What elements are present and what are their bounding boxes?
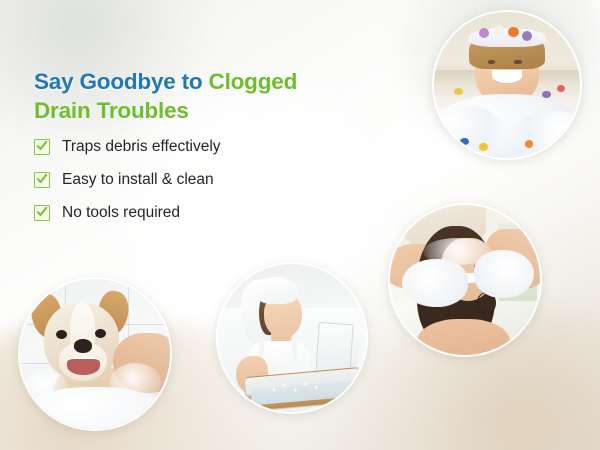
feature-label: No tools required (62, 204, 180, 222)
list-item: Easy to install & clean (34, 165, 354, 195)
list-item: Traps debris effectively (34, 132, 354, 162)
headline-line1-blue: Say Goodbye to (34, 69, 209, 94)
check-square-icon (34, 172, 50, 188)
headline-line2: Drain Troubles (34, 98, 189, 123)
check-square-icon (34, 139, 50, 155)
list-item: No tools required (34, 198, 354, 228)
photo-woman-relaxing-tub (216, 262, 368, 414)
feature-label: Easy to install & clean (62, 171, 214, 189)
check-square-icon (34, 205, 50, 221)
feature-label: Traps debris effectively (62, 138, 221, 156)
photo-toddler-bubble-bath (432, 10, 582, 160)
headline: Say Goodbye to Clogged Drain Troubles (34, 67, 364, 126)
feature-list: Traps debris effectively Easy to install… (34, 132, 354, 231)
headline-line1-green: Clogged (209, 69, 298, 94)
photo-corgi-bath (18, 277, 172, 431)
product-feature-banner: Say Goodbye to Clogged Drain Troubles Tr… (0, 0, 600, 450)
photo-girl-hair-wash (388, 203, 542, 357)
